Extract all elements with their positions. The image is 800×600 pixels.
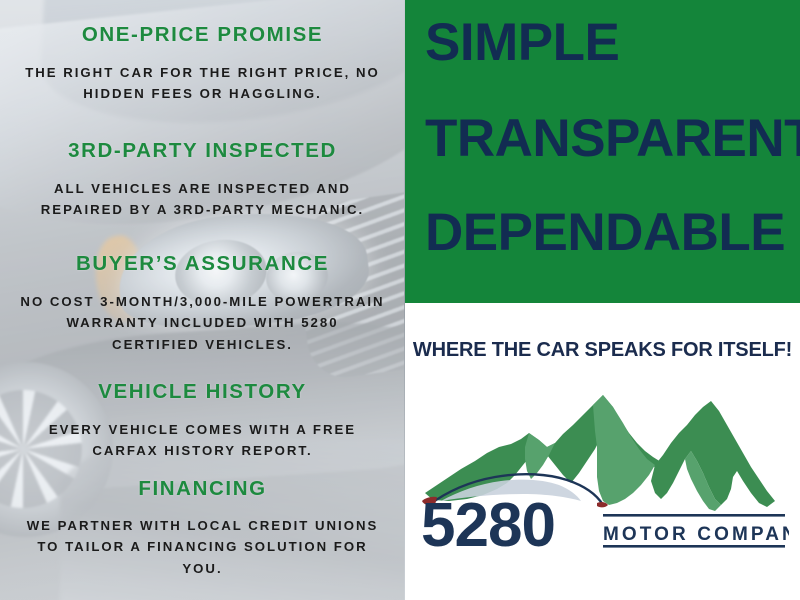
left-benefits-panel: ONE-PRICE PROMISE THE RIGHT CAR FOR THE … (0, 0, 405, 600)
mountain-right-peak (651, 401, 775, 507)
benefit-body-vehicle-history: EVERY VEHICLE COMES WITH A FREE CARFAX H… (12, 419, 393, 462)
green-slogan-panel: SIMPLE TRANSPARENT DEPENDABLE (405, 0, 800, 303)
benefit-body-buyers-assurance: NO COST 3-MONTH/3,000-MILE POWERTRAIN WA… (12, 291, 393, 355)
benefit-heading-vehicle-history: VEHICLE HISTORY (12, 381, 393, 403)
logo-svg: 5280 MOTOR COMPANY (417, 381, 789, 561)
benefit-heading-3rd-party-inspected: 3RD-PARTY INSPECTED (12, 140, 393, 162)
company-logo: 5280 MOTOR COMPANY (417, 381, 789, 561)
benefit-heading-financing: FINANCING (12, 478, 393, 500)
slogan-line-transparent: TRANSPARENT (425, 108, 800, 169)
benefits-list: ONE-PRICE PROMISE THE RIGHT CAR FOR THE … (0, 0, 405, 600)
brand-panel: WHERE THE CAR SPEAKS FOR ITSELF! (405, 303, 800, 600)
wordmark-rule-top (603, 514, 785, 517)
wordmark-rule-bottom (603, 545, 785, 548)
benefit-heading-buyers-assurance: BUYER’S ASSURANCE (12, 253, 393, 275)
logo-wordmark-motor-company: MOTOR COMPANY (603, 524, 789, 545)
benefit-body-one-price-promise: THE RIGHT CAR FOR THE RIGHT PRICE, NO HI… (12, 62, 393, 105)
slogan-line-simple: SIMPLE (425, 12, 619, 73)
logo-number-5280: 5280 (421, 491, 555, 560)
mountain-center-face (593, 395, 655, 505)
benefit-heading-one-price-promise: ONE-PRICE PROMISE (12, 24, 393, 46)
poster-canvas: ONE-PRICE PROMISE THE RIGHT CAR FOR THE … (0, 0, 800, 600)
brand-tagline: WHERE THE CAR SPEAKS FOR ITSELF! (405, 339, 800, 362)
logo-wordmark-group: MOTOR COMPANY (603, 514, 789, 548)
slogan-line-dependable: DEPENDABLE (425, 202, 785, 263)
benefit-body-3rd-party-inspected: ALL VEHICLES ARE INSPECTED AND REPAIRED … (12, 178, 393, 221)
benefit-body-financing: WE PARTNER WITH LOCAL CREDIT UNIONS TO T… (12, 515, 393, 579)
